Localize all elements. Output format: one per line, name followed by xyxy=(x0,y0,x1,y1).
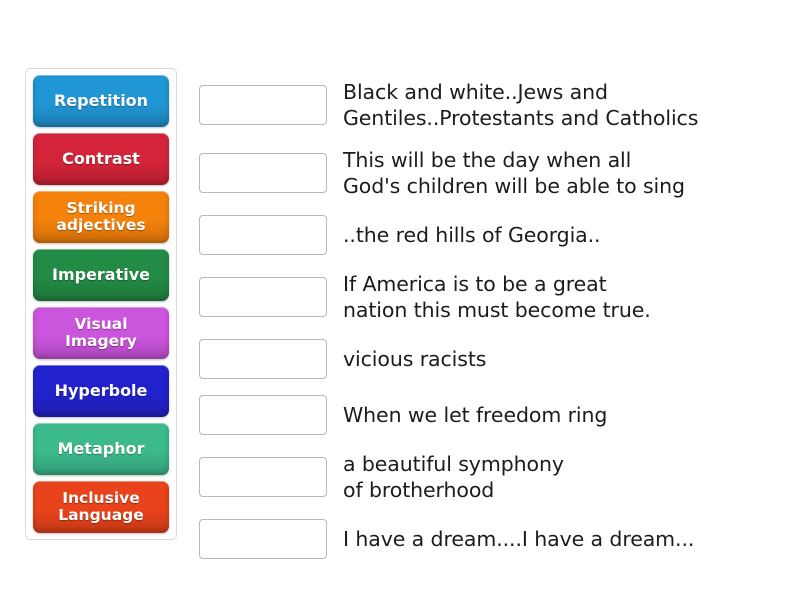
draggable-tile-striking-adjectives[interactable]: Striking adjectives xyxy=(33,191,169,243)
quote-text-7: a beautiful symphony of brotherhood xyxy=(343,451,564,503)
quote-text-4: If America is to be a great nation this … xyxy=(343,271,651,323)
draggable-tile-hyperbole[interactable]: Hyperbole xyxy=(33,365,169,417)
quote-text-6: When we let freedom ring xyxy=(343,402,607,428)
dropzone-7[interactable] xyxy=(199,457,327,497)
answer-panel: Black and white..Jews and Gentiles..Prot… xyxy=(199,68,800,559)
match-up-activity: Repetition Contrast Striking adjectives … xyxy=(0,0,800,600)
tile-label: Metaphor xyxy=(58,440,145,458)
tile-label: Repetition xyxy=(54,92,148,110)
tile-label: Visual Imagery xyxy=(38,316,164,351)
draggable-tile-inclusive-language[interactable]: Inclusive Language xyxy=(33,481,169,533)
dropzone-8[interactable] xyxy=(199,519,327,559)
dropzone-1[interactable] xyxy=(199,85,327,125)
dropzone-3[interactable] xyxy=(199,215,327,255)
answer-row: vicious racists xyxy=(199,339,800,379)
answer-row: When we let freedom ring xyxy=(199,395,800,435)
tile-label: Contrast xyxy=(62,150,140,168)
draggable-tile-panel: Repetition Contrast Striking adjectives … xyxy=(25,68,177,540)
answer-row: ..the red hills of Georgia.. xyxy=(199,215,800,255)
answer-row: a beautiful symphony of brotherhood xyxy=(199,451,800,503)
quote-text-5: vicious racists xyxy=(343,346,486,372)
quote-text-2: This will be the day when all God's chil… xyxy=(343,147,685,199)
answer-row: Black and white..Jews and Gentiles..Prot… xyxy=(199,79,800,131)
draggable-tile-imperative[interactable]: Imperative xyxy=(33,249,169,301)
quote-text-8: I have a dream....I have a dream... xyxy=(343,526,694,552)
draggable-tile-visual-imagery[interactable]: Visual Imagery xyxy=(33,307,169,359)
tile-label: Striking adjectives xyxy=(38,200,164,235)
dropzone-2[interactable] xyxy=(199,153,327,193)
draggable-tile-metaphor[interactable]: Metaphor xyxy=(33,423,169,475)
quote-text-1: Black and white..Jews and Gentiles..Prot… xyxy=(343,79,698,131)
answer-row: If America is to be a great nation this … xyxy=(199,271,800,323)
dropzone-4[interactable] xyxy=(199,277,327,317)
answer-row: This will be the day when all God's chil… xyxy=(199,147,800,199)
tile-label: Imperative xyxy=(52,266,150,284)
dropzone-5[interactable] xyxy=(199,339,327,379)
draggable-tile-contrast[interactable]: Contrast xyxy=(33,133,169,185)
tile-label: Inclusive Language xyxy=(38,490,164,525)
dropzone-6[interactable] xyxy=(199,395,327,435)
quote-text-3: ..the red hills of Georgia.. xyxy=(343,222,600,248)
answer-row: I have a dream....I have a dream... xyxy=(199,519,800,559)
tile-label: Hyperbole xyxy=(55,382,148,400)
draggable-tile-repetition[interactable]: Repetition xyxy=(33,75,169,127)
